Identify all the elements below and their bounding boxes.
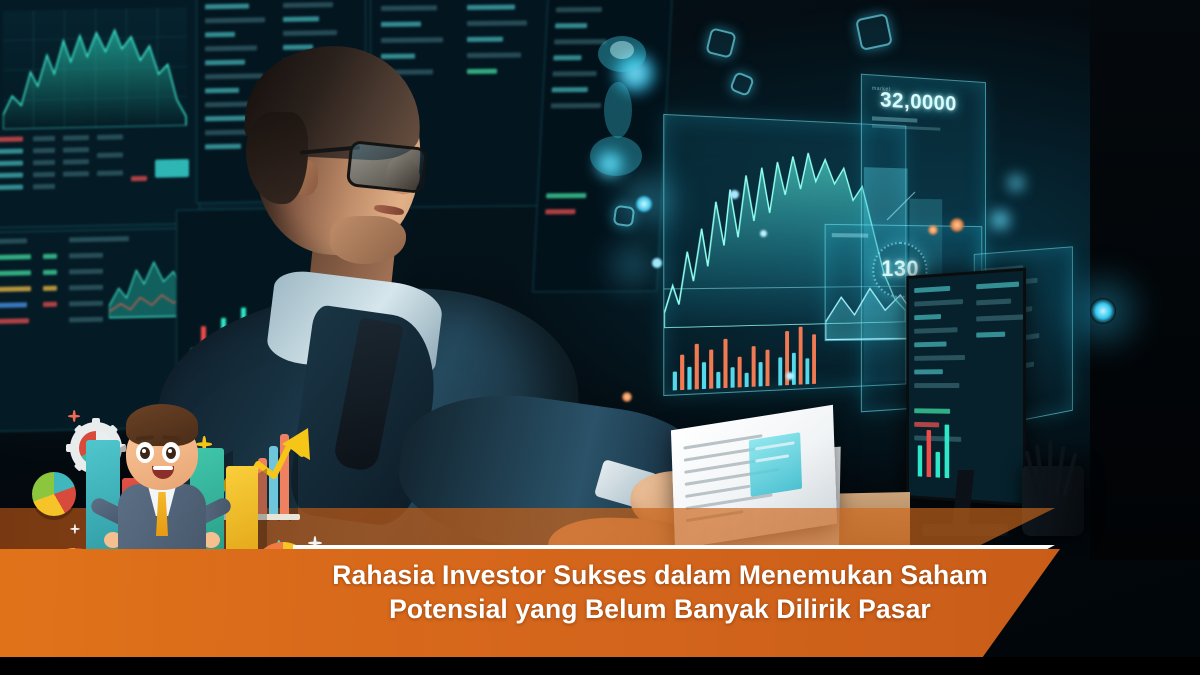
chin [330,216,406,264]
pen-holder [1022,466,1084,536]
banner-title: Rahasia Investor Sukses dalam Menemukan … [300,559,1020,627]
floating-cube-icon [855,13,893,51]
holo-value-caption: market [872,86,891,93]
thumbnail-canvas: 32,0000 market 130 [0,0,1200,675]
eyeglasses-lens [346,140,428,194]
sparkle-icon [70,524,80,534]
ambient-light-glow [1090,298,1116,324]
hair-sideburn [246,112,308,204]
banner-title-line-2: Potensial yang Belum Banyak Dilirik Pasa… [300,593,1020,627]
sparkle-icon [68,410,80,422]
banner-accent-line [293,545,1055,549]
banner-title-line-1: Rahasia Investor Sukses dalam Menemukan … [300,559,1020,593]
room-back-wall [1090,0,1200,560]
pie-chart-left [32,472,76,516]
holo-value-large: 32,0000 [880,88,957,116]
bottom-black-strip [0,657,1200,675]
